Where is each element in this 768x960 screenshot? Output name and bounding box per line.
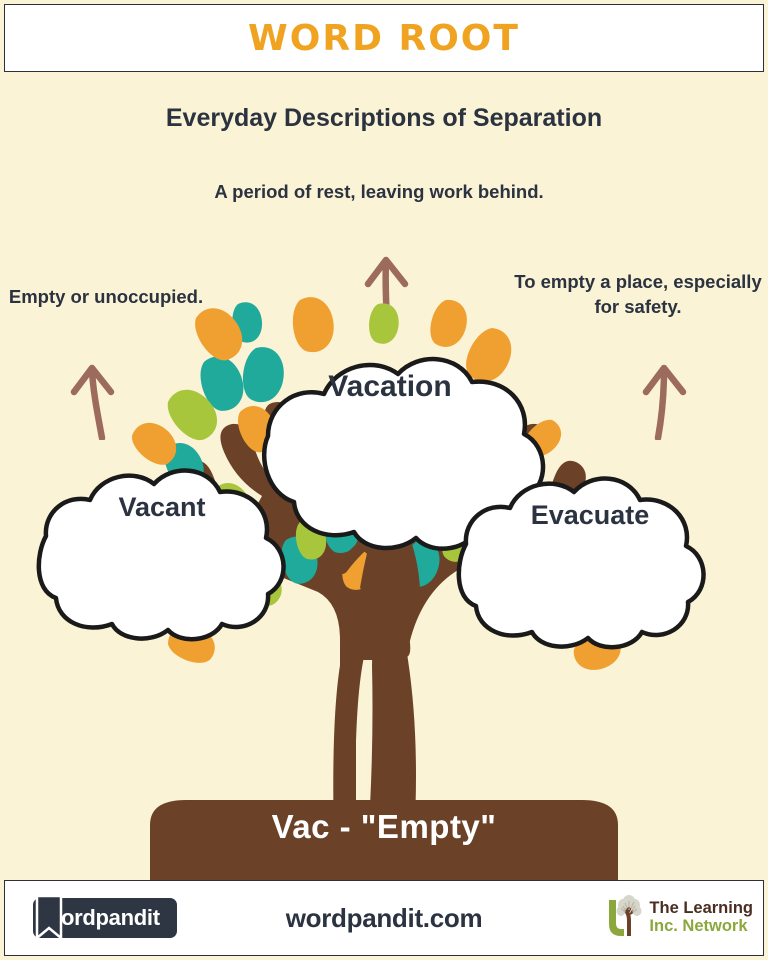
wordpandit-logo-text: ordpandit (61, 905, 160, 931)
site-url[interactable]: wordpandit.com (286, 903, 483, 933)
subtitle: Everyday Descriptions of Separation (0, 104, 768, 133)
tree-illustration (0, 240, 768, 880)
page-title: WORD ROOT (248, 18, 520, 59)
wordpandit-logo[interactable]: ordpandit (27, 896, 177, 940)
header-bar: WORD ROOT (4, 4, 764, 72)
learning-network-text: The Learning Inc. Network (649, 900, 753, 936)
footer-partner-logo[interactable]: The Learning Inc. Network (533, 894, 763, 942)
partner-line-1: The Learning (649, 900, 753, 918)
infographic-poster: WORD ROOT Everyday Descriptions of Separ… (0, 0, 768, 960)
cloud-vacant (39, 471, 284, 640)
footer-site-area: wordpandit.com (235, 903, 533, 934)
footer-brand-logo-area: ordpandit (5, 896, 235, 940)
footer-bar: ordpandit wordpandit.com (4, 880, 764, 956)
partner-line-2: Inc. Network (649, 918, 753, 936)
root-banner-label: Vac - "Empty" (0, 808, 768, 846)
learning-network-tree-icon (597, 894, 645, 942)
callout-vacation-definition: A period of rest, leaving work behind. (184, 180, 574, 205)
